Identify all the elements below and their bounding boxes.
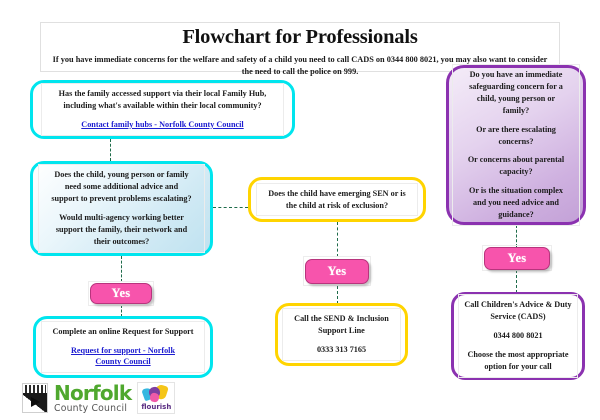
request-for-support-link-cont[interactable]: County Council — [95, 357, 150, 366]
connector-advice-to-yes — [121, 256, 122, 282]
send-inclusion-outcome[interactable]: Call the SEND & Inclusion Support Line 0… — [275, 303, 408, 366]
connector-yes-to-cads — [516, 270, 517, 293]
cads-content: Call Children's Advice & Duty Service (C… — [458, 294, 578, 377]
flowchart-canvas: Flowchart for Professionals If you have … — [0, 0, 600, 420]
connector-sen-to-yes — [337, 222, 338, 257]
yes-middle-button[interactable]: Yes — [305, 259, 369, 284]
flourish-logo: flourish — [137, 382, 175, 414]
advice-p1-l1: Does the child, young person or family — [42, 169, 200, 181]
crest-pennant-icon — [31, 397, 40, 407]
cads-line4: option for your call — [462, 361, 574, 373]
yes-middle-wrapper: Yes — [303, 256, 371, 286]
yes-right-button[interactable]: Yes — [484, 247, 550, 270]
cads-outcome[interactable]: Call Children's Advice & Duty Service (C… — [451, 292, 585, 380]
sg-p1-l3: child, young person or — [456, 93, 577, 105]
norfolk-logo-line2: County Council — [54, 404, 131, 413]
sg-p1-l2: safeguarding concern for a — [456, 81, 577, 93]
request-support-outcome[interactable]: Complete an online Request for Support R… — [33, 316, 213, 378]
sg-p3-l2: capacity? — [456, 166, 577, 178]
safeguarding-question[interactable]: Do you have an immediate safeguarding co… — [446, 65, 586, 225]
family-hub-content: Has the family accessed support via thei… — [41, 83, 284, 136]
sg-p2-l1: Or are there escalating — [456, 124, 577, 136]
yes-left-wrapper: Yes — [88, 281, 154, 306]
request-for-support-link[interactable]: Request for support - Norfolk — [71, 346, 175, 355]
yes-right-wrapper: Yes — [482, 245, 552, 271]
advice-p1-l2: need some additional advice and — [42, 181, 200, 193]
yes-right-label: Yes — [508, 251, 527, 266]
advice-p1-l3: support to prevent problems escalating? — [42, 193, 200, 205]
advice-p2-l2: support the family, their network and — [42, 224, 200, 236]
flourish-label: flourish — [141, 403, 171, 411]
sg-p2-l2: concerns? — [456, 136, 577, 148]
contact-family-hubs-link[interactable]: Contact family hubs - Norfolk County Cou… — [81, 120, 243, 129]
request-line1: Complete an online Request for Support — [45, 326, 201, 338]
sg-p1-l4: family? — [456, 105, 577, 117]
yes-left-label: Yes — [112, 286, 131, 301]
connector-advice-to-sen — [213, 207, 248, 208]
cads-line3: Choose the most appropriate — [462, 349, 574, 361]
family-hub-line2: including what's available within their … — [45, 100, 280, 112]
advice-p2-l1: Would multi-agency working better — [42, 212, 200, 224]
footer-logos: Norfolk County Council flourish — [22, 382, 175, 414]
cads-line1: Call Children's Advice & Duty — [462, 299, 574, 311]
sen-exclusion-content: Does the child have emerging SEN or is t… — [256, 183, 418, 217]
connector-safeguarding-to-yes — [516, 225, 517, 247]
request-support-content: Complete an online Request for Support R… — [41, 321, 205, 374]
sg-p4-l3: guidance? — [456, 209, 577, 221]
additional-advice-question[interactable]: Does the child, young person or family n… — [30, 161, 213, 256]
additional-advice-content: Does the child, young person or family n… — [38, 164, 204, 252]
connector-yes-to-send — [337, 286, 338, 304]
sen-exclusion-question[interactable]: Does the child have emerging SEN or is t… — [248, 177, 426, 222]
page-title: Flowchart for Professionals — [47, 25, 553, 51]
flourish-tick-icon — [143, 385, 169, 402]
yes-left-button[interactable]: Yes — [90, 283, 152, 304]
sg-p3-l1: Or concerns about parental — [456, 154, 577, 166]
cads-line2: Service (CADS) — [462, 311, 574, 323]
send-line2: Support Line — [286, 325, 397, 337]
sg-p4-l1: Or is the situation complex — [456, 185, 577, 197]
send-phone: 0333 313 7165 — [286, 344, 397, 356]
norfolk-county-council-logo: Norfolk County Council — [54, 383, 131, 413]
family-hub-question[interactable]: Has the family accessed support via thei… — [30, 80, 295, 139]
safeguarding-content: Do you have an immediate safeguarding co… — [452, 64, 581, 226]
connector-familyhub-to-advice — [110, 139, 111, 161]
sg-p1-l1: Do you have an immediate — [456, 69, 577, 81]
norfolk-coat-of-arms-icon — [22, 383, 48, 413]
cads-phone: 0344 800 8021 — [462, 330, 574, 342]
advice-p2-l3: their outcomes? — [42, 236, 200, 248]
family-hub-line1: Has the family accessed support via thei… — [45, 88, 280, 100]
send-inclusion-content: Call the SEND & Inclusion Support Line 0… — [282, 308, 401, 361]
sen-line2: the child at risk of exclusion? — [260, 200, 414, 212]
norfolk-logo-line1: Norfolk — [54, 383, 131, 403]
send-line1: Call the SEND & Inclusion — [286, 313, 397, 325]
sg-p4-l2: and you need advice and — [456, 197, 577, 209]
sen-line1: Does the child have emerging SEN or is — [260, 188, 414, 200]
yes-middle-label: Yes — [328, 264, 347, 279]
